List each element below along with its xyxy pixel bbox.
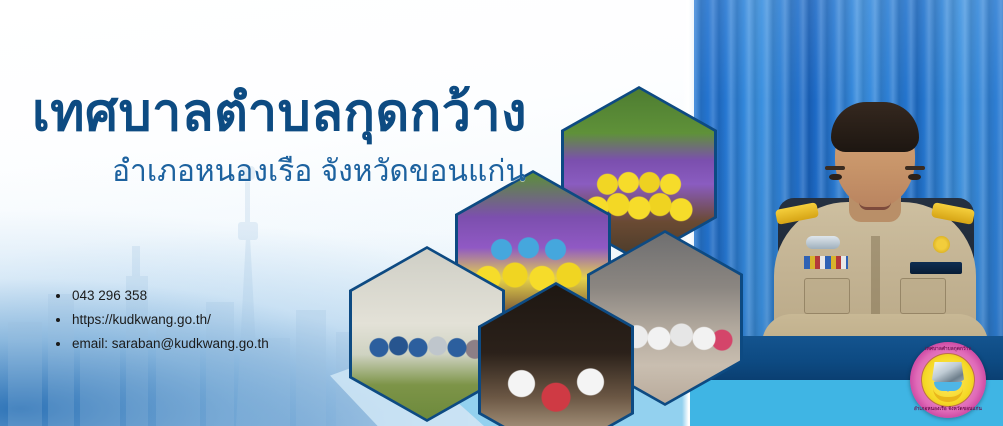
contact-email[interactable]: email: saraban@kudkwang.go.th [56, 336, 269, 351]
mouth [859, 202, 891, 210]
eye-right [829, 174, 842, 180]
rank-insignia-icon [933, 236, 950, 253]
contact-website[interactable]: https://kudkwang.go.th/ [56, 312, 269, 327]
name-tag [910, 262, 962, 274]
eyebrow-left [905, 166, 925, 170]
seal-top-text: เทศบาลตำบลกุดกว้าง [910, 346, 986, 353]
organization-title: เทศบาลตำบลกุดกว้าง [32, 86, 527, 141]
eyebrow-right [825, 166, 845, 170]
municipal-seal-logo[interactable]: เทศบาลตำบลกุดกว้าง อำเภอหนองเรือ จังหวัด… [910, 342, 986, 418]
seal-bottom-text: อำเภอหนองเรือ จังหวัดขอนแก่น [910, 406, 986, 413]
eye-left [908, 174, 921, 180]
contact-phone: 043 296 358 [56, 288, 269, 303]
organization-subtitle: อำเภอหนองเรือ จังหวัดขอนแก่น [112, 155, 526, 188]
contact-list: 043 296 358 https://kudkwang.go.th/ emai… [56, 288, 269, 360]
mayor-portrait [760, 86, 990, 376]
wing-badge-icon [806, 236, 840, 249]
service-ribbons [804, 256, 848, 269]
hair [831, 102, 919, 152]
municipality-banner: เทศบาลตำบลกุดกว้าง อำเภอหนองเรือ จังหวัด… [0, 0, 1003, 426]
